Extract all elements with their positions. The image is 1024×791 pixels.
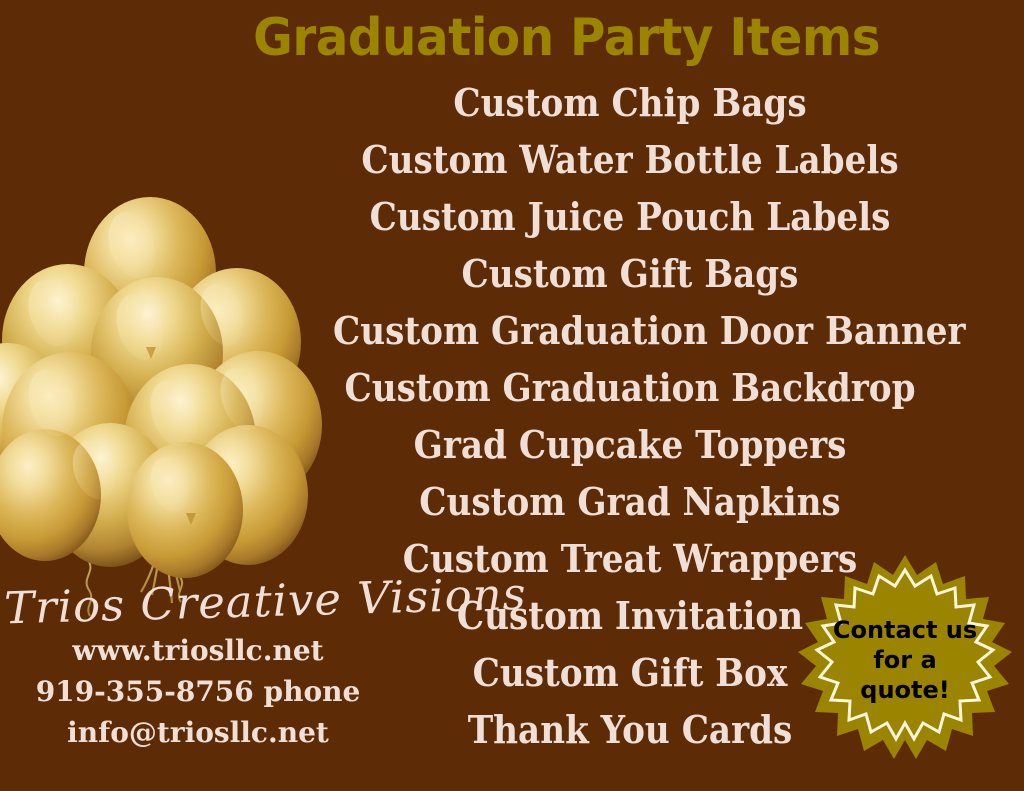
list-item: Custom Water Bottle Labels (333, 131, 927, 188)
starburst-shape (798, 555, 1012, 759)
list-item: Custom Graduation Backdrop (333, 359, 927, 416)
graduation-party-flyer: Graduation Party Items Custom Chip Bags … (0, 0, 1024, 791)
list-item: Custom Chip Bags (333, 74, 927, 131)
list-item: Custom Gift Bags (333, 245, 927, 302)
brand-phone[interactable]: 919-355-8756 phone (8, 671, 388, 712)
list-item: Custom Graduation Door Banner (333, 302, 927, 359)
brand-block: Trios Creative Visions www.triosllc.net … (8, 578, 388, 753)
brand-email[interactable]: info@triosllc.net (8, 712, 388, 753)
brand-name: Trios Creative Visions (4, 573, 393, 636)
gold-balloon-bunch-illustration (0, 95, 330, 655)
contact-quote-badge[interactable]: Contact us for a quote! (798, 553, 1012, 767)
page-title: Graduation Party Items (253, 12, 867, 64)
list-item: Custom Grad Napkins (333, 473, 927, 530)
list-item: Custom Juice Pouch Labels (333, 188, 927, 245)
list-item: Grad Cupcake Toppers (333, 416, 927, 473)
brand-website[interactable]: www.triosllc.net (8, 630, 388, 671)
